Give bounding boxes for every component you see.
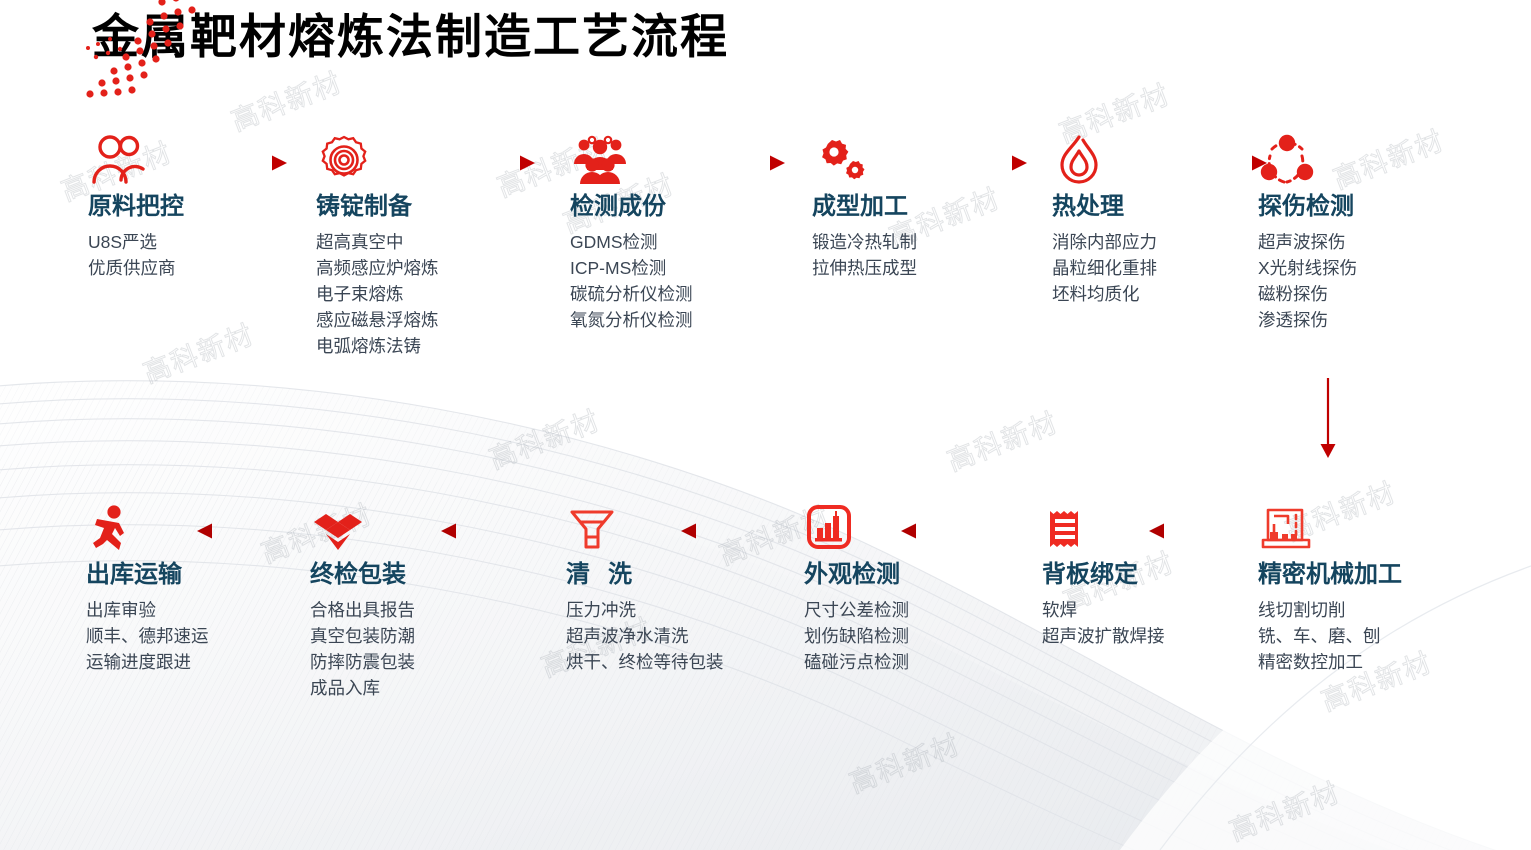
step-ingot-preparation[interactable]: 铸锭制备 超高真空中 高频感应炉熔炼 电子束熔炼 感应磁悬浮熔炼 电弧熔炼法铸	[316, 130, 536, 359]
step-title: 出库运输	[86, 560, 286, 590]
step-detail-line: 拉伸热压成型	[812, 255, 1022, 281]
watermark: 高科新材	[1223, 771, 1345, 849]
step-detail-line: 成品入库	[310, 675, 510, 701]
step-detail-line: 烘干、终检等待包装	[566, 649, 738, 675]
step-detail-line: 渗透探伤	[1258, 307, 1458, 333]
background-swoosh-svg	[0, 0, 1531, 850]
step-raw-material-control[interactable]: 原料把控 U8S严选 优质供应商	[88, 130, 298, 281]
cnc-machine-icon	[1258, 498, 1478, 554]
title-block: 金属靶材熔炼法制造工艺流程	[92, 6, 729, 68]
step-detail-line: 顺丰、德邦速运	[86, 623, 286, 649]
gear-target-icon	[316, 130, 536, 186]
step-heat-treatment[interactable]: 热处理 消除内部应力 晶粒细化重排 坯料均质化	[1052, 130, 1252, 307]
step-final-inspection-packaging[interactable]: 终检包装 合格出具报告 真空包装防潮 防摔防震包装 成品入库	[310, 498, 510, 701]
step-detail-lines: 压力冲洗 超声波净水清洗 烘干、终检等待包装	[566, 597, 738, 675]
step-detail-line: 消除内部应力	[1052, 229, 1252, 255]
step-detail-line: 划伤缺陷检测	[804, 623, 1004, 649]
watermark: 高科新材	[483, 399, 605, 477]
step-title: 热处理	[1052, 192, 1252, 222]
team-people-icon	[570, 130, 790, 186]
step-title: 成型加工	[812, 192, 1022, 222]
step-detail-line: 磕碰污点检测	[804, 649, 1004, 675]
step-detail-lines: 锻造冷热轧制 拉伸热压成型	[812, 229, 1022, 281]
step-detail-line: 氧氮分析仪检测	[570, 307, 790, 333]
step-precision-machining[interactable]: 精密机械加工 线切割切削 铣、车、磨、刨 精密数控加工	[1258, 498, 1478, 675]
step-detail-line: 磁粉探伤	[1258, 281, 1458, 307]
slide-canvas: 高科新材 高科新材 高科新材 高科新材 高科新材 高科新材 高科新材 高科新材 …	[0, 0, 1531, 850]
step-title: 铸锭制备	[316, 192, 536, 222]
step-detail-line: 锻造冷热轧制	[812, 229, 1022, 255]
step-title: 精密机械加工	[1258, 560, 1478, 590]
arrow-step6-to-step7	[1314, 378, 1342, 460]
step-title: 背板绑定	[1042, 560, 1242, 590]
step-backplate-bonding[interactable]: 背板绑定 软焊 超声波扩散焊接	[1042, 498, 1242, 649]
step-forming-processing[interactable]: 成型加工 锻造冷热轧制 拉伸热压成型	[812, 130, 1022, 281]
step-detail-line: 出库审验	[86, 597, 286, 623]
step-detail-line: 优质供应商	[88, 255, 298, 281]
background-decoration	[0, 0, 1531, 850]
step-detail-line: 感应磁悬浮熔炼	[316, 307, 536, 333]
step-detail-lines: 消除内部应力 晶粒细化重排 坯料均质化	[1052, 229, 1252, 307]
step-detail-line: 线切割切削	[1258, 597, 1478, 623]
funnel-icon	[566, 498, 738, 554]
step-detail-line: 尺寸公差检测	[804, 597, 1004, 623]
gears-icon	[812, 130, 1022, 186]
step-detail-line: GDMS检测	[570, 229, 790, 255]
step-detail-lines: U8S严选 优质供应商	[88, 229, 298, 281]
step-detail-line: 软焊	[1042, 597, 1242, 623]
flame-icon	[1052, 130, 1252, 186]
step-detail-line: 铣、车、磨、刨	[1258, 623, 1478, 649]
step-detail-lines: 软焊 超声波扩散焊接	[1042, 597, 1242, 649]
step-detail-line: 电子束熔炼	[316, 281, 536, 307]
watermark: 高科新材	[843, 723, 965, 801]
running-person-icon	[86, 498, 286, 554]
step-title: 终检包装	[310, 560, 510, 590]
step-outbound-shipping[interactable]: 出库运输 出库审验 顺丰、德邦速运 运输进度跟进	[86, 498, 286, 675]
step-detail-lines: 合格出具报告 真空包装防潮 防摔防震包装 成品入库	[310, 597, 510, 701]
step-detail-line: 碳硫分析仪检测	[570, 281, 790, 307]
step-detail-line: 真空包装防潮	[310, 623, 510, 649]
step-detail-lines: GDMS检测 ICP-MS检测 碳硫分析仪检测 氧氮分析仪检测	[570, 229, 790, 333]
step-detail-lines: 超声波探伤 X光射线探伤 磁粉探伤 渗透探伤	[1258, 229, 1458, 333]
people-group-icon	[88, 130, 298, 186]
step-detail-line: 坯料均质化	[1052, 281, 1252, 307]
step-detail-line: ICP-MS检测	[570, 255, 790, 281]
step-detail-line: 超声波探伤	[1258, 229, 1458, 255]
step-detail-lines: 线切割切削 铣、车、磨、刨 精密数控加工	[1258, 597, 1478, 675]
step-cleaning[interactable]: 清洗 压力冲洗 超声波净水清洗 烘干、终检等待包装	[566, 498, 738, 675]
step-detail-line: 精密数控加工	[1258, 649, 1478, 675]
step-title: 探伤检测	[1258, 192, 1458, 222]
step-detail-line: 高频感应炉熔炼	[316, 255, 536, 281]
step-flaw-detection[interactable]: 探伤检测 超声波探伤 X光射线探伤 磁粉探伤 渗透探伤	[1258, 130, 1458, 333]
step-detail-line: X光射线探伤	[1258, 255, 1458, 281]
step-detail-line: 超声波扩散焊接	[1042, 623, 1242, 649]
open-box-icon	[310, 498, 510, 554]
step-detail-line: 压力冲洗	[566, 597, 738, 623]
step-title: 检测成份	[570, 192, 790, 222]
step-detail-line: 电弧熔炼法铸	[316, 333, 536, 359]
watermark: 高科新材	[137, 313, 259, 391]
three-dots-triangle-icon	[1258, 130, 1458, 186]
step-composition-testing[interactable]: 检测成份 GDMS检测 ICP-MS检测 碳硫分析仪检测 氧氮分析仪检测	[570, 130, 790, 333]
step-detail-lines: 尺寸公差检测 划伤缺陷检测 磕碰污点检测	[804, 597, 1004, 675]
step-appearance-inspection[interactable]: 外观检测 尺寸公差检测 划伤缺陷检测 磕碰污点检测	[804, 498, 1004, 675]
step-detail-lines: 超高真空中 高频感应炉熔炼 电子束熔炼 感应磁悬浮熔炼 电弧熔炼法铸	[316, 229, 536, 359]
factory-badge-icon	[804, 498, 1004, 554]
step-detail-line: 超声波净水清洗	[566, 623, 738, 649]
step-detail-line: U8S严选	[88, 229, 298, 255]
step-detail-line: 防摔防震包装	[310, 649, 510, 675]
step-title: 原料把控	[88, 192, 298, 222]
step-detail-line: 晶粒细化重排	[1052, 255, 1252, 281]
step-title: 外观检测	[804, 560, 1004, 590]
bonding-plate-icon	[1042, 498, 1242, 554]
watermark: 高科新材	[941, 401, 1063, 479]
step-detail-lines: 出库审验 顺丰、德邦速运 运输进度跟进	[86, 597, 286, 675]
step-detail-line: 超高真空中	[316, 229, 536, 255]
step-title: 清洗	[566, 560, 738, 590]
step-detail-line: 合格出具报告	[310, 597, 510, 623]
decorative-dot-arc	[86, 0, 216, 105]
step-detail-line: 运输进度跟进	[86, 649, 286, 675]
watermark: 高科新材	[225, 61, 347, 139]
